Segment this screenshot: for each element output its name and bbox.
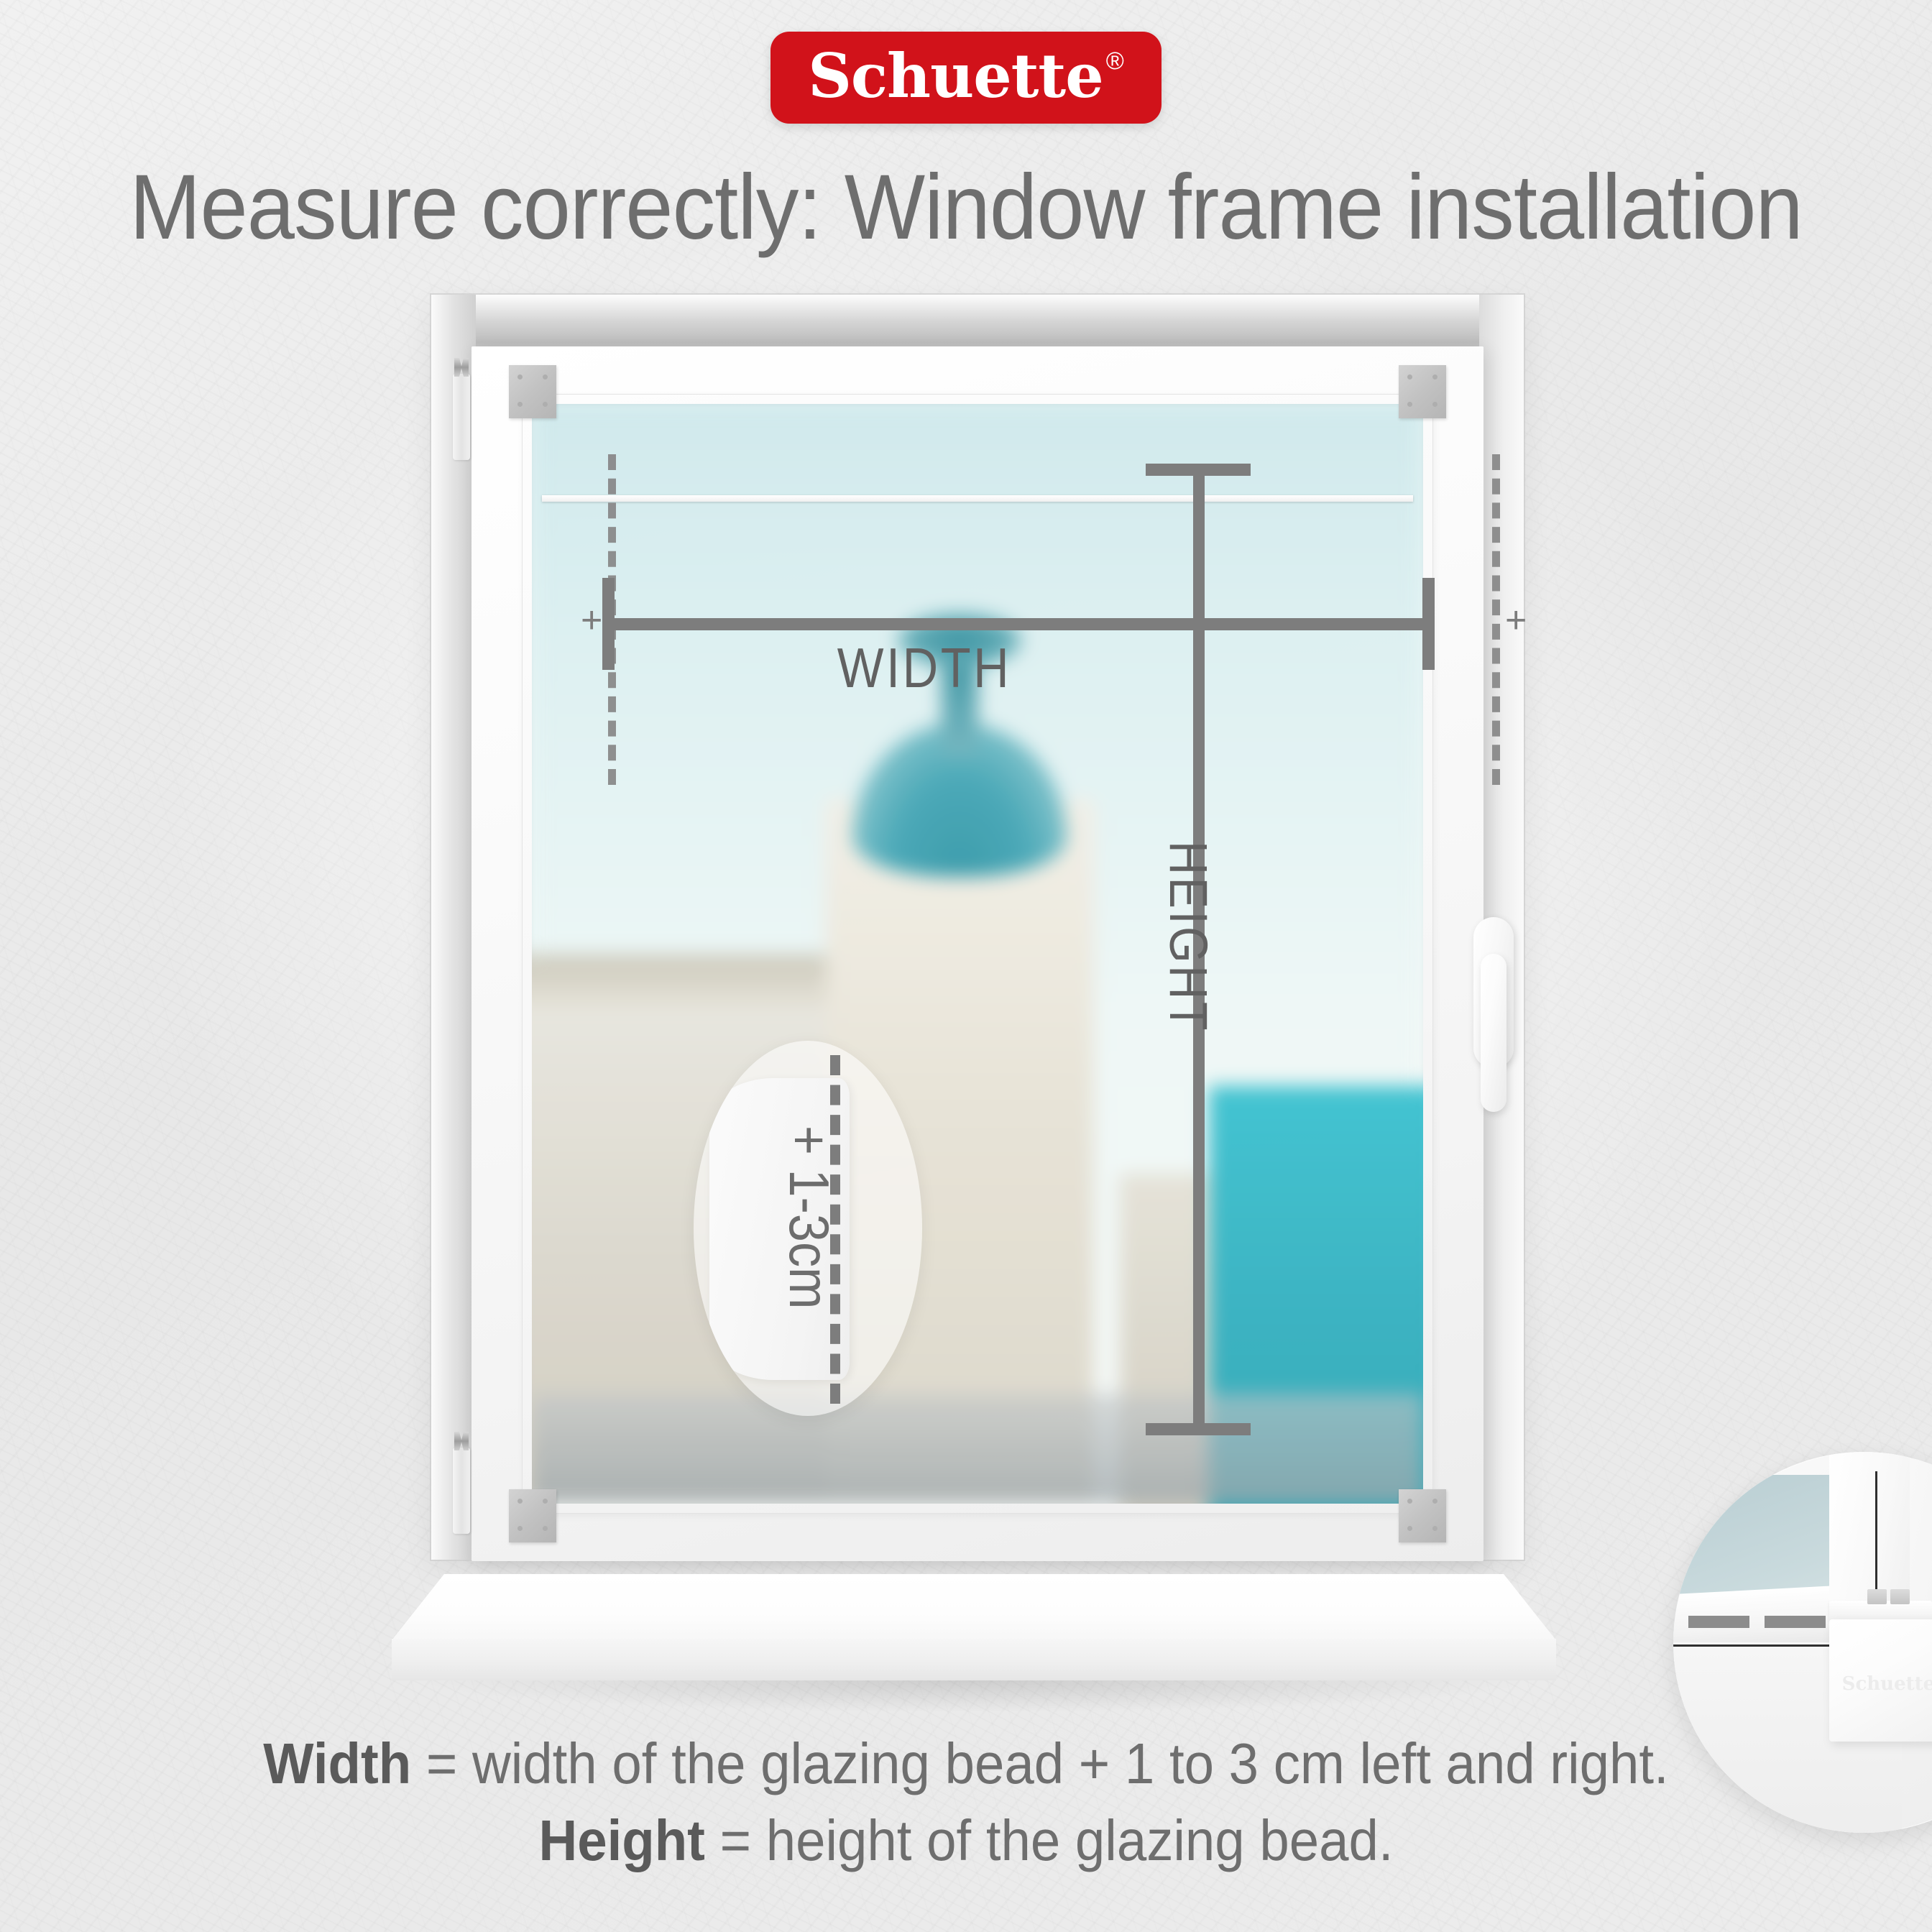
mounting-bracket-top-left — [509, 365, 556, 418]
height-instruction-key: Height — [538, 1808, 704, 1872]
window-sill-shadow — [427, 1680, 1522, 1712]
width-instruction-key: Width — [263, 1731, 411, 1795]
street — [532, 1394, 1423, 1504]
page-title: Measure correctly: Window frame installa… — [68, 155, 1864, 260]
detail-bracket-clip-left — [1867, 1589, 1887, 1604]
window-sill — [392, 1574, 1556, 1689]
mounting-bracket-top-right — [1399, 365, 1446, 418]
window-sash — [522, 394, 1433, 1514]
detail-cassette-brand-text: Schuette — [1829, 1673, 1932, 1695]
measurement-instructions: Width = width of the glazing bead + 1 to… — [0, 1725, 1932, 1879]
detail-line-vertical — [1875, 1471, 1877, 1597]
window-hinge-top — [453, 374, 470, 460]
window-sill-front — [392, 1639, 1556, 1680]
height-instruction-text: = height of the glazing bead. — [705, 1808, 1394, 1872]
glazing-transom-bar — [542, 495, 1413, 502]
mounting-bracket-bottom-right — [1399, 1489, 1446, 1542]
window-sill-top — [392, 1574, 1556, 1640]
window-handle-lever[interactable] — [1481, 954, 1506, 1112]
window-hinge-bottom — [453, 1448, 470, 1534]
brand-logo-text: Schuette — [808, 46, 1103, 106]
brand-logo: Schuette ® — [770, 32, 1161, 124]
mounting-bracket-bottom-left — [509, 1489, 556, 1542]
detail-line-horizontal — [1673, 1644, 1834, 1647]
height-instruction-line: Height = height of the glazing bead. — [68, 1802, 1864, 1879]
magnifier-left-lens: + 1-3cm — [694, 1041, 922, 1416]
detail-dash-horizontal-1 — [1688, 1616, 1749, 1628]
window-glass — [532, 404, 1423, 1504]
detail-bracket-clip-right — [1890, 1589, 1910, 1604]
window-illustration: + + WIDTH HEIGHT + 1-3cm — [402, 280, 1567, 1646]
width-instruction-text: = width of the glazing bead + 1 to 3 cm … — [411, 1731, 1668, 1795]
window-frame: + + WIDTH HEIGHT — [471, 346, 1483, 1561]
width-instruction-line: Width = width of the glazing bead + 1 to… — [68, 1725, 1864, 1802]
wall-reveal-left — [431, 295, 476, 1560]
magnifier-left: + 1-3cm — [694, 1041, 922, 1416]
brand-logo-container: Schuette ® — [0, 32, 1932, 124]
registered-trademark-icon: ® — [1106, 49, 1124, 73]
city-view-image — [532, 404, 1423, 1504]
detail-roller-blind-cassette: Schuette — [1829, 1619, 1932, 1742]
tower-statue — [897, 613, 1022, 668]
detail-dash-horizontal-2 — [1765, 1616, 1826, 1628]
tolerance-callout-label: + 1-3cm — [776, 1126, 842, 1310]
